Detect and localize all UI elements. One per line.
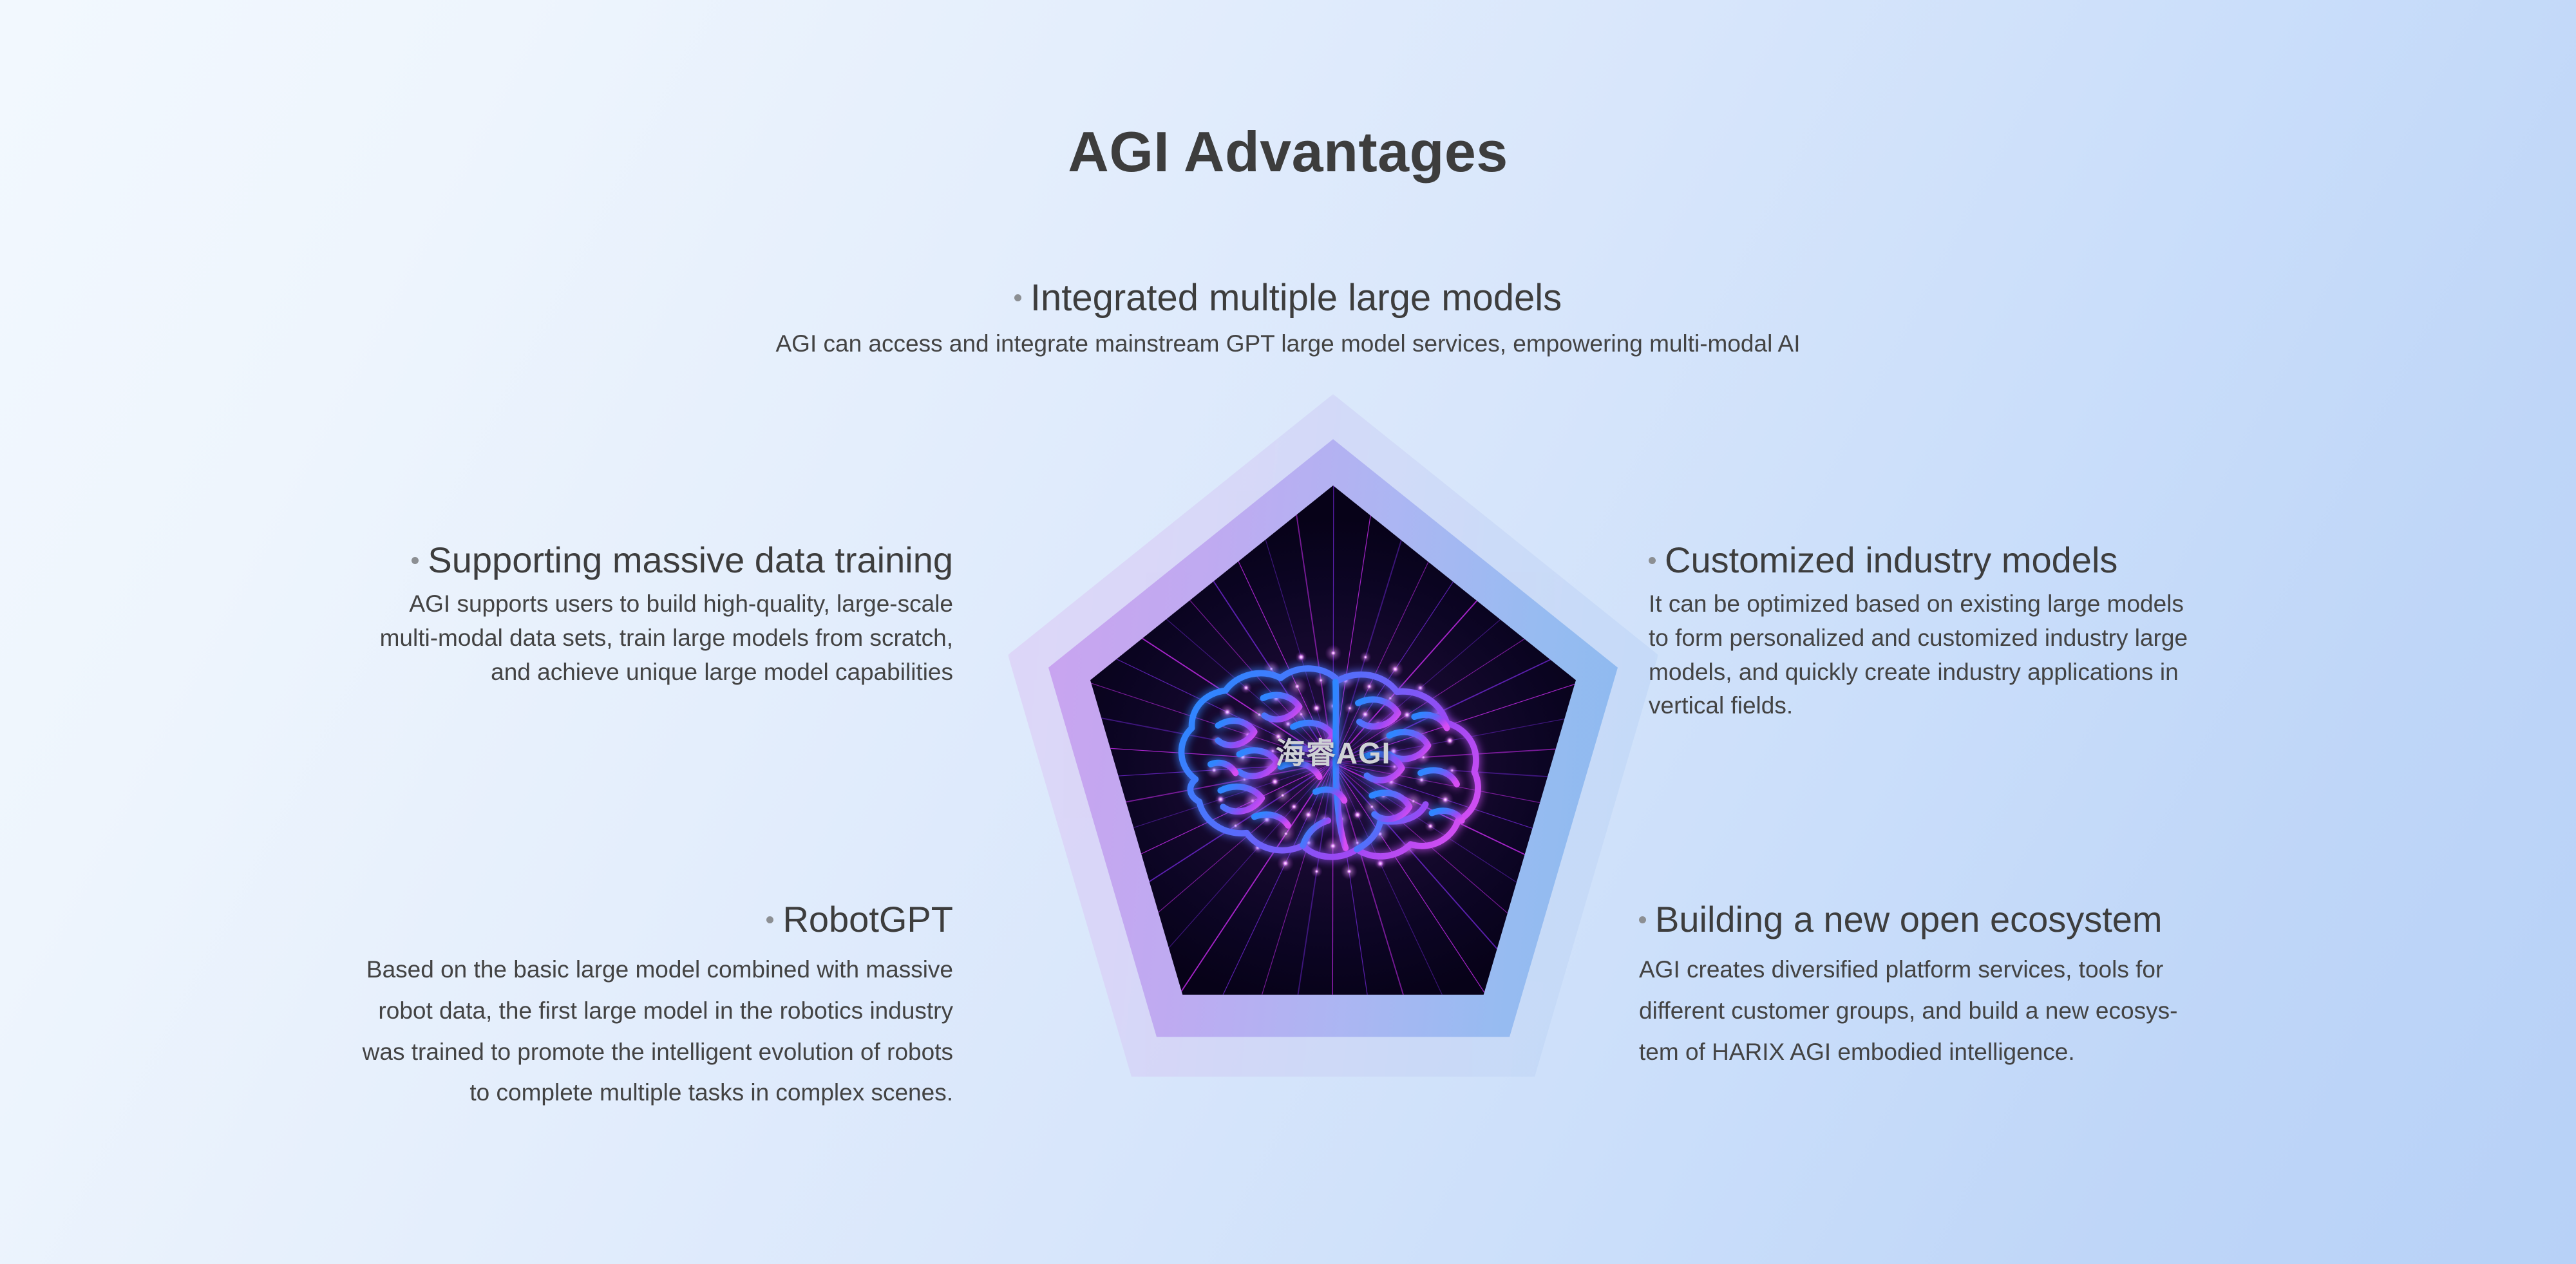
pentagon-brain-graphic: 海睿AGI xyxy=(1008,394,1658,1109)
feature-body: It can be optimized based on existing la… xyxy=(1649,587,2550,722)
feature-robotgpt: RobotGPT Based on the basic large model … xyxy=(26,900,953,1113)
feature-heading: Customized industry models xyxy=(1649,541,2117,580)
feature-building-a-new-open-ecosystem: Building a new open ecosystem AGI create… xyxy=(1639,900,2560,1072)
feature-heading-text: Building a new open ecosystem xyxy=(1655,899,2163,939)
feature-body: AGI can access and integrate mainstream … xyxy=(0,328,2576,360)
feature-integrated-multiple-large-models: Integrated multiple large models AGI can… xyxy=(0,278,2576,359)
feature-body: AGI supports users to build high-quality… xyxy=(58,587,953,689)
bullet-dot-icon xyxy=(412,557,419,564)
feature-body: Based on the basic large model combined … xyxy=(26,949,953,1113)
feature-heading: Supporting massive data training xyxy=(412,541,953,580)
feature-heading: Building a new open ecosystem xyxy=(1639,900,2163,939)
bullet-dot-icon xyxy=(1649,557,1656,564)
feature-heading-text: Customized industry models xyxy=(1665,540,2117,580)
pentagon-center-label: 海睿AGI xyxy=(1090,730,1576,773)
feature-heading: RobotGPT xyxy=(766,900,953,939)
infographic-canvas: AGI Advantages xyxy=(0,0,2576,1264)
feature-heading-text: Integrated multiple large models xyxy=(1030,277,1562,319)
feature-heading-text: Supporting massive data training xyxy=(428,540,953,580)
page-title: AGI Advantages xyxy=(0,119,2576,185)
feature-heading-text: RobotGPT xyxy=(782,899,953,939)
feature-body: AGI creates diversified platform service… xyxy=(1639,949,2560,1072)
feature-heading: Integrated multiple large models xyxy=(1014,278,1562,319)
bullet-dot-icon xyxy=(1639,916,1646,923)
bullet-dot-icon xyxy=(766,916,773,923)
feature-customized-industry-models: Customized industry models It can be opt… xyxy=(1649,541,2550,723)
bullet-dot-icon xyxy=(1014,294,1021,301)
feature-supporting-massive-data-training: Supporting massive data training AGI sup… xyxy=(58,541,953,689)
